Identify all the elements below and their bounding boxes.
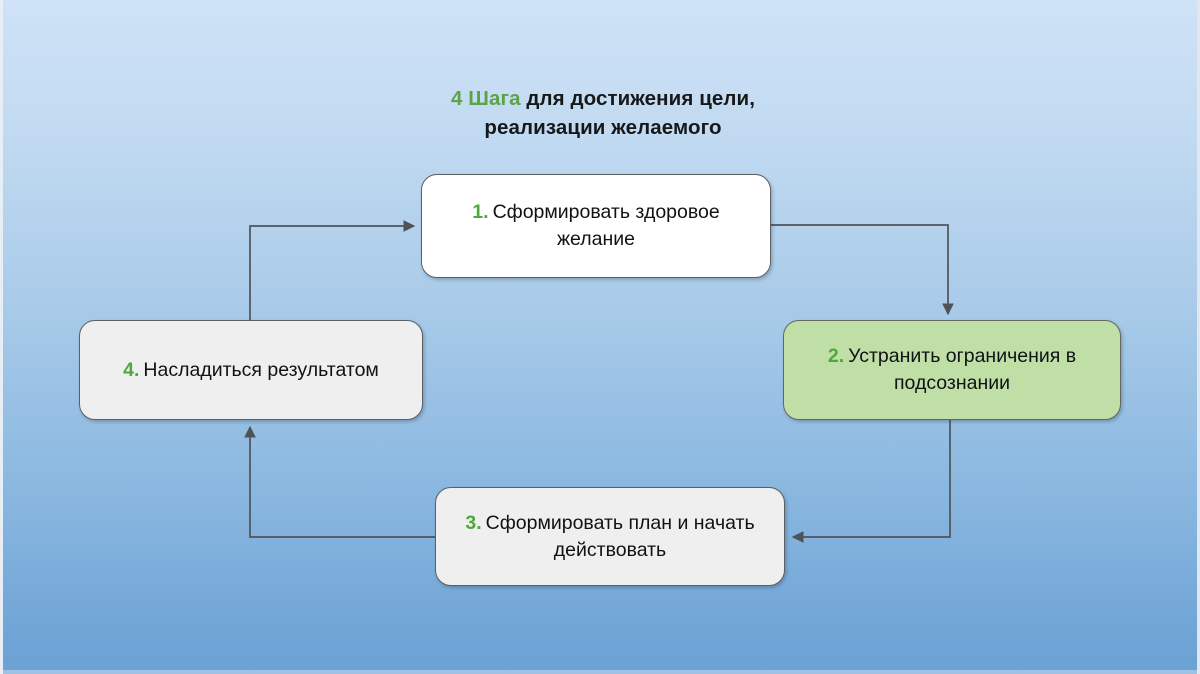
step-box-4-content: 4.Насладиться результатом xyxy=(107,357,395,384)
step-2-label: Устранить ограничения в подсознании xyxy=(848,345,1076,394)
step-1-number: 1. xyxy=(472,201,488,223)
connector-3-to-4 xyxy=(250,427,435,537)
step-box-3[interactable]: 3.Сформировать план и начать действовать xyxy=(435,487,785,586)
step-box-4[interactable]: 4.Насладиться результатом xyxy=(79,320,423,420)
connector-4-to-1 xyxy=(250,226,414,320)
step-3-label: Сформировать план и начать действовать xyxy=(486,512,755,561)
step-box-2[interactable]: 2.Устранить ограничения в подсознании xyxy=(783,320,1121,420)
step-3-number: 3. xyxy=(465,512,481,534)
step-box-3-content: 3.Сформировать план и начать действовать xyxy=(436,510,784,564)
step-box-1[interactable]: 1.Сформировать здоровое желание xyxy=(421,174,771,278)
slide-canvas: 4 Шага для достижения цели, реализации ж… xyxy=(0,0,1200,674)
step-box-1-content: 1.Сформировать здоровое желание xyxy=(422,199,770,253)
step-box-2-content: 2.Устранить ограничения в подсознании xyxy=(784,343,1120,397)
step-4-number: 4. xyxy=(123,359,139,381)
step-2-number: 2. xyxy=(828,345,844,367)
step-1-label: Сформировать здоровое желание xyxy=(493,201,720,250)
connector-1-to-2 xyxy=(771,225,948,314)
connector-2-to-3 xyxy=(793,420,950,537)
step-4-label: Насладиться результатом xyxy=(143,359,378,381)
